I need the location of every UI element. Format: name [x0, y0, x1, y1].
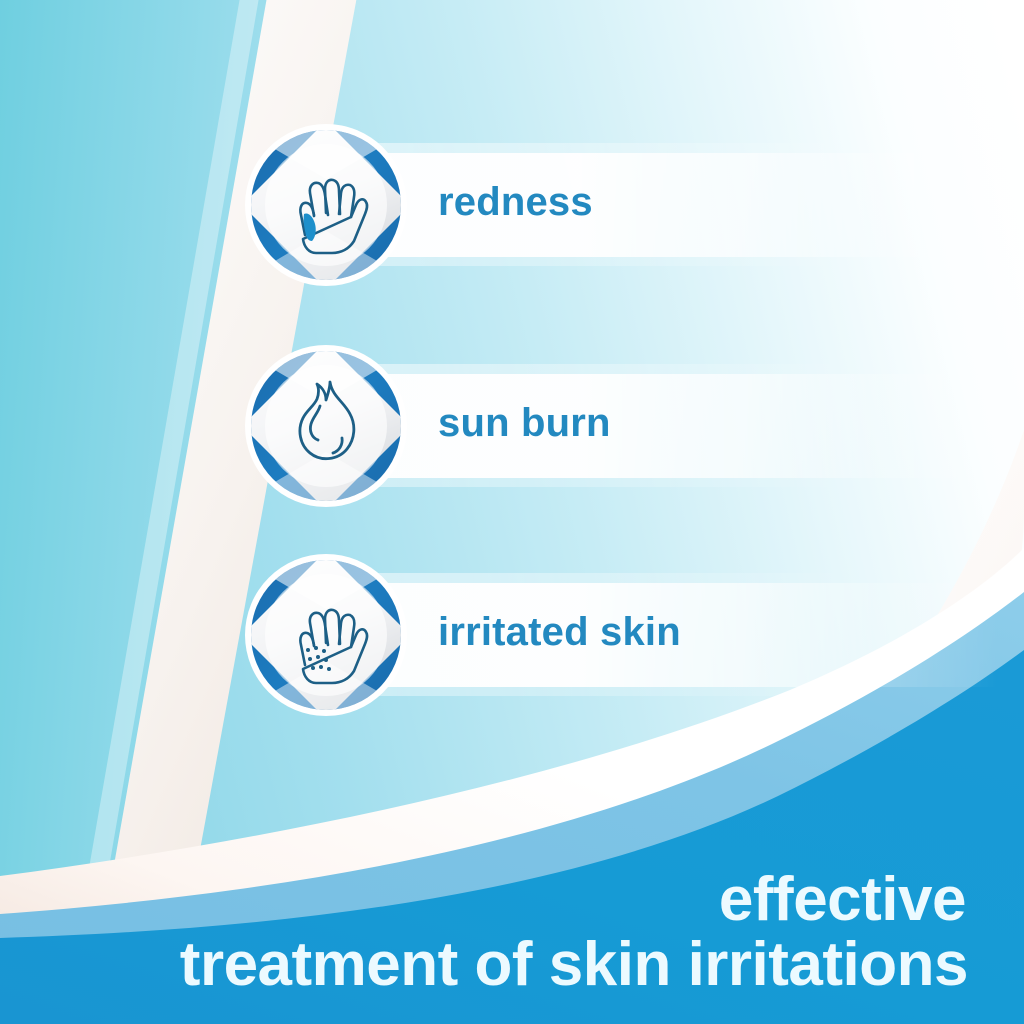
feature-label-redness: redness	[438, 167, 593, 237]
headline-line-1: effective	[0, 867, 968, 933]
hand-rash-icon	[238, 547, 414, 723]
headline: effective treatment of skin irritations	[0, 867, 1024, 998]
feature-label-bar	[326, 374, 998, 478]
feature-label-irritated-skin: irritated skin	[438, 597, 681, 667]
headline-line-2: treatment of skin irritations	[0, 932, 968, 998]
feature-item-redness[interactable]: redness	[238, 117, 998, 297]
flame-icon	[238, 338, 414, 514]
feature-item-sun-burn[interactable]: sun burn	[238, 338, 998, 518]
hand-redness-icon	[238, 117, 414, 293]
feature-label-bar	[326, 153, 998, 257]
feature-item-irritated-skin[interactable]: irritated skin	[238, 547, 998, 727]
promo-banner: redness	[0, 0, 1024, 1024]
feature-label-sun-burn: sun burn	[438, 388, 611, 458]
